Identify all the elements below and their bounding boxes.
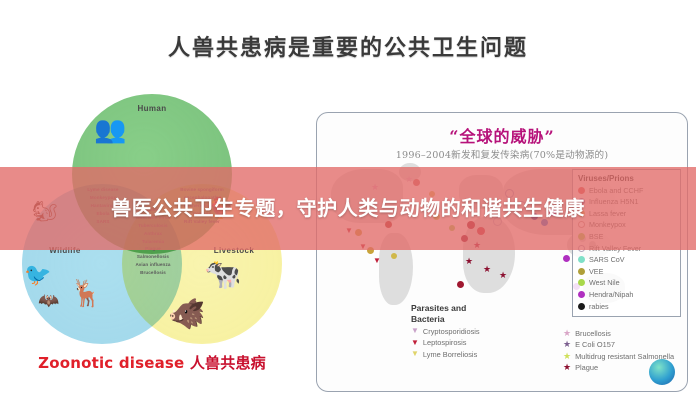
color-swatch xyxy=(578,279,585,286)
legend-item-label: West Nile xyxy=(589,278,620,287)
color-swatch xyxy=(578,268,585,275)
bird-silhouette-icon: 🐦 xyxy=(24,264,51,286)
venn-caption-cn: 人兽共患病 xyxy=(190,354,266,372)
map-marker-dot xyxy=(457,281,464,288)
legend-item-label: Brucellosis xyxy=(575,329,611,338)
map-marker-dot xyxy=(563,255,570,262)
legend-item: Hendra/Nipah xyxy=(578,290,676,299)
legend-item-label: Hendra/Nipah xyxy=(589,290,633,299)
pig-silhouette-icon: 🐗 xyxy=(168,300,205,330)
legend-item: rabies xyxy=(578,302,676,311)
legend-item-label: rabies xyxy=(589,302,609,311)
triangle-down-icon: ▼ xyxy=(411,350,419,358)
infographic-canvas: 人兽共患病是重要的公共卫生问题 👥 🐿 🐦 🦇 🦌 🐓 🐄 🐗 Human Wi… xyxy=(0,0,696,400)
cow-silhouette-icon: 🐄 xyxy=(204,260,241,290)
color-swatch xyxy=(578,303,585,310)
legend-item: West Nile xyxy=(578,278,676,287)
map-marker-star: ★ xyxy=(465,257,473,266)
venn-label-human: Human xyxy=(112,104,192,113)
legend-item: SARS CoV xyxy=(578,255,676,264)
legend-item-label: Lyme Borreliosis xyxy=(423,350,477,359)
legend-item: ★ Multidrug resistant Salmonella xyxy=(563,352,688,361)
star-icon: ★ xyxy=(563,340,571,349)
map-marker-dot xyxy=(391,253,397,259)
legend-item: ▼ Leptospirosis xyxy=(411,338,521,347)
legend-item-label: SARS CoV xyxy=(589,255,625,264)
venn-caption: Zoonotic disease 人兽共患病 xyxy=(8,352,296,373)
legend-item-label: Plague xyxy=(575,363,598,372)
map-marker-star: ★ xyxy=(483,265,491,274)
bat-silhouette-icon: 🦇 xyxy=(38,292,59,309)
legend-item-label: VEE xyxy=(589,267,603,276)
triangle-down-icon: ▼ xyxy=(411,327,419,335)
triangle-down-icon: ▼ xyxy=(411,339,419,347)
legend-item: VEE xyxy=(578,267,676,276)
people-silhouette-icon: 👥 xyxy=(94,116,123,142)
map-card-subtitle: 1996–2004新发和复发传染病(70%是动物源的) xyxy=(317,147,687,161)
legend-title-line1: Parasites and xyxy=(411,303,521,314)
legend-item-label: Leptospirosis xyxy=(423,338,467,347)
map-marker-star: ★ xyxy=(499,271,507,280)
legend-item: ★ E Coli O157 xyxy=(563,340,688,349)
color-swatch xyxy=(578,256,585,263)
legend-title-line2: Bacteria xyxy=(411,314,521,325)
legend-item: ★ Brucellosis xyxy=(563,329,688,338)
legend-item-label: E Coli O157 xyxy=(575,340,615,349)
global-threat-card: “全球的威胁” 1996–2004新发和复发传染病(70%是动物源的) ▼ ▼ … xyxy=(316,112,688,392)
star-icon: ★ xyxy=(563,363,571,372)
color-swatch xyxy=(578,291,585,298)
legend-item: ▼ Lyme Borreliosis xyxy=(411,350,521,359)
page-title: 人兽共患病是重要的公共卫生问题 xyxy=(0,30,696,62)
legend-item: ▼ Cryptosporidiosis xyxy=(411,327,521,336)
map-card-title: “全球的威胁” xyxy=(317,123,687,147)
legend-item-label: Cryptosporidiosis xyxy=(423,327,480,336)
deer-silhouette-icon: 🦌 xyxy=(70,280,102,306)
star-icon: ★ xyxy=(563,329,571,338)
legend-parasites-bacteria: Parasites and Bacteria ▼ Cryptosporidios… xyxy=(411,303,521,359)
map-marker-triangle: ▼ xyxy=(373,257,381,265)
star-icon: ★ xyxy=(563,352,571,361)
globe-icon xyxy=(649,359,675,385)
overlay-caption: 兽医公共卫生专题，守护人类与动物的和谐共生健康 xyxy=(0,167,696,250)
venn-caption-en: Zoonotic disease xyxy=(38,354,190,372)
